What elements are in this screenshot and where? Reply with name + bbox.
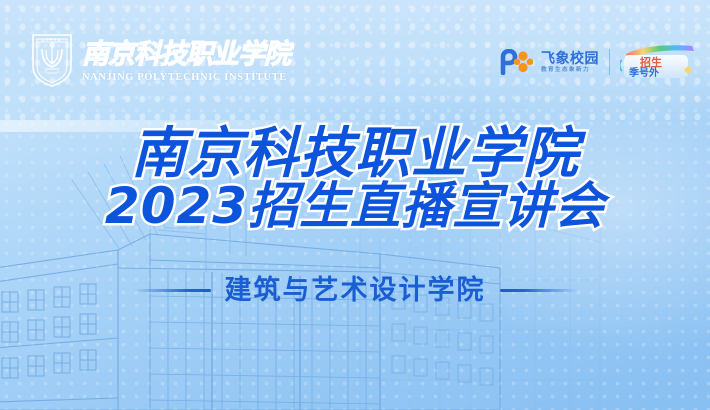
title-line-1: 南京科技职业学院 bbox=[131, 121, 579, 185]
university-logo: 南京科技职业学院 NANJING POLYTECHNIC INSTITUTE bbox=[31, 33, 294, 88]
partner-logo-group: 飞象校园 教育生态象新力 bbox=[499, 42, 698, 82]
partner-name-block: 飞象校园 教育生态象新力 bbox=[541, 51, 599, 74]
svg-text:招生: 招生 bbox=[640, 55, 662, 69]
university-name-cn: 南京科技职业学院 bbox=[82, 37, 294, 71]
poster-banner: 南京科技职业学院 NANJING POLYTECHNIC INSTITUTE 飞… bbox=[0, 0, 710, 410]
title-line-2-wrap: 2023招生直播宣讲会 bbox=[0, 181, 710, 231]
svg-text:南京科技职业学院: 南京科技职业学院 bbox=[82, 39, 294, 70]
subtitle-block: 建筑与艺术设计学院 bbox=[0, 277, 710, 304]
partner-name-cn: 飞象校园 bbox=[541, 51, 599, 66]
title-line-1-wrap: 南京科技职业学院 bbox=[0, 126, 710, 181]
title-block: 南京科技职业学院 2023招生直播宣讲会 bbox=[0, 126, 710, 231]
poster-header: 南京科技职业学院 NANJING POLYTECHNIC INSTITUTE 飞… bbox=[0, 0, 710, 120]
university-name-block: 南京科技职业学院 NANJING POLYTECHNIC INSTITUTE bbox=[82, 37, 294, 84]
vertical-divider-icon bbox=[609, 49, 610, 75]
horizontal-rule-icon-left bbox=[133, 289, 211, 292]
fx-logo-icon bbox=[499, 49, 533, 75]
subtitle-text: 建筑与艺术设计学院 bbox=[225, 277, 486, 304]
university-name-en: NANJING POLYTECHNIC INSTITUTE bbox=[82, 72, 294, 84]
title-line-2: 2023招生直播宣讲会 bbox=[105, 177, 605, 235]
partner-tagline: 教育生态象新力 bbox=[541, 67, 590, 74]
svg-text:季号外: 季号外 bbox=[628, 66, 659, 79]
shield-emblem-icon bbox=[31, 33, 73, 88]
enrollment-ribbon-badge-icon: 招生 季号外 bbox=[620, 42, 698, 82]
horizontal-rule-icon-right bbox=[500, 289, 578, 292]
